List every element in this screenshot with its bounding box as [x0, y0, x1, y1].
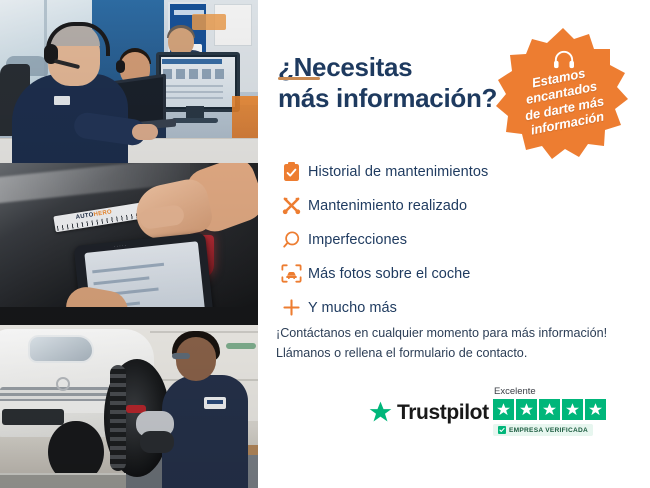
screen-header-bar	[162, 59, 222, 64]
feature-label: Mantenimiento realizado	[308, 198, 467, 214]
car-emblem	[56, 377, 70, 391]
desktop-monitor	[156, 52, 240, 112]
promo-starburst-badge: Estamos encantados de darte más informac…	[494, 24, 632, 164]
check-badge-icon	[498, 426, 506, 434]
car-lower-grille	[2, 409, 64, 425]
star-icon	[493, 399, 514, 420]
trustpilot-widget[interactable]: Trustpilot Excelente EMPRESA VERIFICADA	[368, 386, 618, 448]
star-icon	[539, 399, 560, 420]
trustpilot-rating: Excelente EMPRESA VERIFICADA	[493, 386, 618, 438]
star-icon	[516, 399, 537, 420]
car-lift-platform	[0, 473, 126, 488]
contact-info-banner: AUTOHERO ·····	[0, 0, 650, 488]
technician-head	[176, 337, 216, 381]
paragraph-line-1: ¡Contáctanos en cualquier momento para m…	[276, 324, 636, 344]
technician-glove	[140, 431, 174, 453]
photo-call-center-agents-with-headsets	[0, 0, 258, 163]
tablet-line	[92, 263, 164, 274]
agent-1-hand	[132, 124, 158, 140]
headline-line-2: más información?	[278, 83, 528, 114]
trustpilot-wordmark: Trustpilot	[397, 401, 489, 425]
trustpilot-star-icon	[368, 400, 393, 425]
monitor-base	[172, 118, 218, 123]
wall-hose	[226, 343, 256, 349]
feature-label: Más fotos sobre el coche	[308, 266, 470, 282]
technician-safety-glasses	[172, 353, 190, 359]
title-divider	[278, 77, 320, 80]
screen-thumbnails	[163, 69, 227, 79]
photo-collage: AUTOHERO ·····	[0, 0, 258, 488]
rating-label: Excelente	[493, 386, 618, 397]
tools-cross-icon	[274, 193, 308, 219]
feature-label: Imperfecciones	[308, 232, 407, 248]
monitor-screen	[161, 57, 235, 107]
trustpilot-logo[interactable]: Trustpilot	[368, 400, 489, 425]
star-rating	[493, 399, 618, 420]
verified-label: EMPRESA VERIFICADA	[509, 427, 588, 434]
contact-paragraph: ¡Contáctanos en cualquier momento para m…	[276, 324, 636, 363]
feature-item-maintenance-done[interactable]: Mantenimiento realizado	[274, 189, 634, 222]
photo-technician-inspecting-wheel	[0, 325, 258, 488]
feature-label: Y mucho más	[308, 300, 397, 316]
paragraph-line-2: Llámanos o rellena el formulario de cont…	[276, 344, 636, 364]
shelf-items	[192, 14, 226, 30]
feature-list: Historial de mantenimientos M	[274, 155, 634, 325]
tablet-line	[93, 276, 149, 285]
screen-text-rows	[165, 85, 223, 99]
magnifier-icon	[274, 227, 308, 253]
star-icon	[585, 399, 606, 420]
feature-item-more-photos[interactable]: Más fotos sobre el coche	[274, 257, 634, 290]
clipboard-check-icon	[274, 159, 308, 185]
technician-body	[162, 375, 248, 488]
agent-1-name-badge	[54, 96, 70, 105]
feature-label: Historial de mantenimientos	[308, 164, 488, 180]
plus-icon	[274, 295, 308, 321]
workshop-floor	[0, 307, 258, 325]
feature-item-maintenance-history[interactable]: Historial de mantenimientos	[274, 155, 634, 188]
page-title: ¿Necesitas más información?	[278, 52, 528, 114]
content-panel: ¿Necesitas más información? Estamos enca…	[258, 0, 650, 488]
car-headlight	[28, 335, 94, 363]
star-icon	[562, 399, 583, 420]
photo-car-inspection-ruler-tablet: AUTOHERO ·····	[0, 163, 258, 325]
car-photo-frame-icon	[274, 261, 308, 287]
technician-shoulder-badge	[204, 397, 226, 409]
tire-tread	[110, 365, 126, 471]
feature-item-much-more[interactable]: Y mucho más	[274, 291, 634, 324]
verified-company-badge: EMPRESA VERIFICADA	[493, 424, 593, 436]
feature-item-imperfections[interactable]: Imperfecciones	[274, 223, 634, 256]
agent-2-headset-cup	[116, 60, 125, 73]
